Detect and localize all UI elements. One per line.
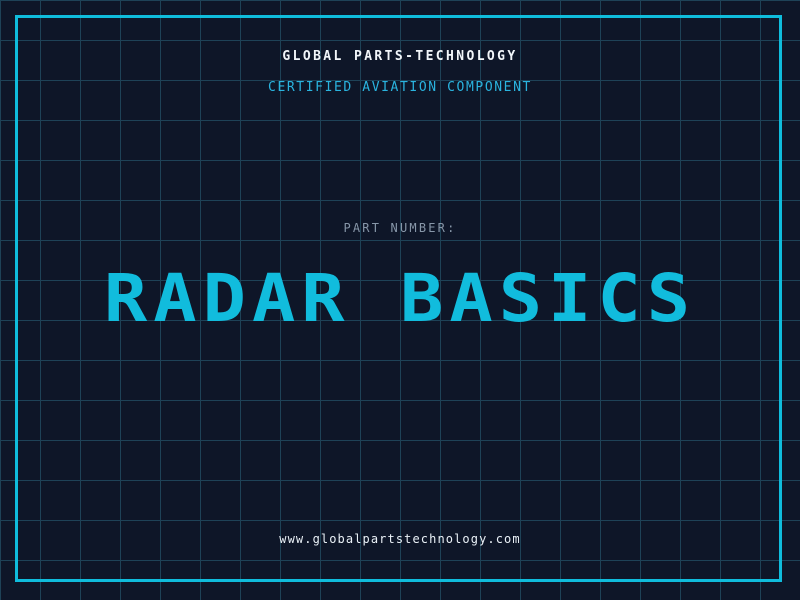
part-number-label: PART NUMBER:: [0, 220, 800, 236]
website-url: www.globalpartstechnology.com: [0, 531, 800, 547]
part-number-value: RADAR BASICS: [0, 262, 800, 334]
certification-line: CERTIFIED AVIATION COMPONENT: [0, 80, 800, 96]
blueprint-card: GLOBAL PARTS-TECHNOLOGY CERTIFIED AVIATI…: [0, 0, 800, 600]
company-name: GLOBAL PARTS-TECHNOLOGY: [0, 49, 800, 65]
